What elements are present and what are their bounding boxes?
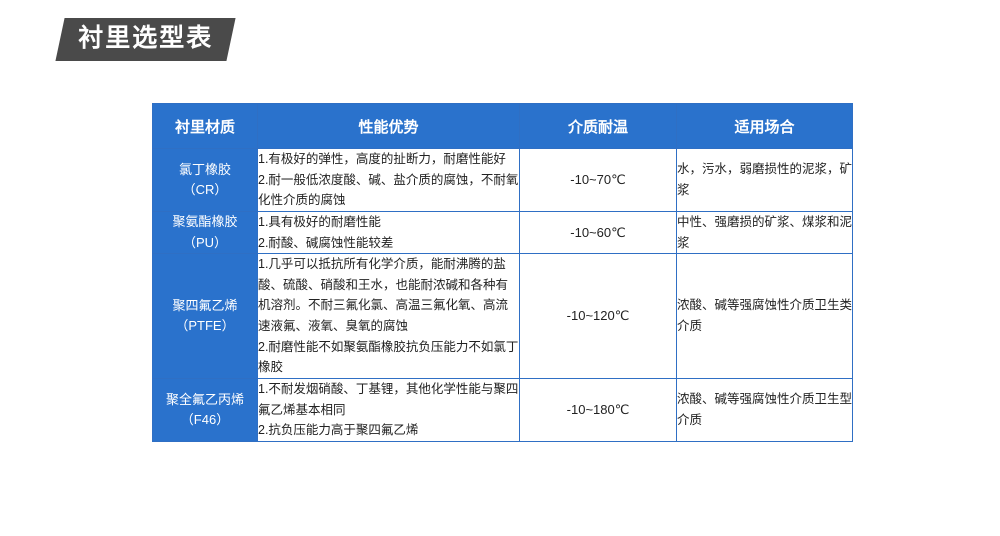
cell-material: 氯丁橡胶 （CR） [153,149,258,212]
table-row: 聚四氟乙烯 （PTFE） 1.几乎可以抵抗所有化学介质，能耐沸腾的盐酸、硫酸、硝… [153,254,853,379]
cell-temperature: -10~60℃ [520,211,677,253]
material-name: 聚四氟乙烯 [153,296,257,316]
cell-temperature: -10~70℃ [520,149,677,212]
cell-usage: 浓酸、碱等强腐蚀性介质卫生类介质 [677,254,853,379]
material-name: 氯丁橡胶 [153,160,257,180]
cell-advantages: 1.有极好的弹性，高度的扯断力，耐磨性能好2.耐一般低浓度酸、碱、盐介质的腐蚀，… [258,149,520,212]
table-row: 聚全氟乙丙烯 （F46） 1.不耐发烟硝酸、丁基锂，其他化学性能与聚四氟乙烯基本… [153,378,853,441]
cell-material: 聚氨酯橡胶 （PU） [153,211,258,253]
table-body: 氯丁橡胶 （CR） 1.有极好的弹性，高度的扯断力，耐磨性能好2.耐一般低浓度酸… [153,149,853,442]
table-row: 聚氨酯橡胶 （PU） 1.具有极好的耐磨性能2.耐酸、碱腐蚀性能较差 -10~6… [153,211,853,253]
cell-usage: 水，污水，弱磨损性的泥浆，矿浆 [677,149,853,212]
header-usage: 适用场合 [677,104,853,149]
page-title-banner: 衬里选型表 [55,18,235,61]
cell-advantages: 1.几乎可以抵抗所有化学介质，能耐沸腾的盐酸、硫酸、硝酸和王水，也能耐浓碱和各种… [258,254,520,379]
cell-material: 聚全氟乙丙烯 （F46） [153,378,258,441]
cell-advantages: 1.不耐发烟硝酸、丁基锂，其他化学性能与聚四氟乙烯基本相同2.抗负压能力高于聚四… [258,378,520,441]
header-material: 衬里材质 [153,104,258,149]
header-temperature: 介质耐温 [520,104,677,149]
material-code: （PU） [153,233,257,253]
material-name: 聚氨酯橡胶 [153,212,257,232]
header-advantages: 性能优势 [258,104,520,149]
cell-material: 聚四氟乙烯 （PTFE） [153,254,258,379]
table-row: 氯丁橡胶 （CR） 1.有极好的弹性，高度的扯断力，耐磨性能好2.耐一般低浓度酸… [153,149,853,212]
lining-selection-table: 衬里材质 性能优势 介质耐温 适用场合 氯丁橡胶 （CR） 1.有极好的弹性，高… [152,103,853,442]
page-title: 衬里选型表 [78,26,213,51]
material-code: （CR） [153,180,257,200]
cell-temperature: -10~120℃ [520,254,677,379]
table-header-row: 衬里材质 性能优势 介质耐温 适用场合 [153,104,853,149]
cell-advantages: 1.具有极好的耐磨性能2.耐酸、碱腐蚀性能较差 [258,211,520,253]
material-code: （F46） [153,410,257,430]
material-name: 聚全氟乙丙烯 [153,390,257,410]
cell-usage: 中性、强磨损的矿浆、煤浆和泥浆 [677,211,853,253]
material-code: （PTFE） [153,316,257,336]
cell-temperature: -10~180℃ [520,378,677,441]
cell-usage: 浓酸、碱等强腐蚀性介质卫生型介质 [677,378,853,441]
table-head: 衬里材质 性能优势 介质耐温 适用场合 [153,104,853,149]
